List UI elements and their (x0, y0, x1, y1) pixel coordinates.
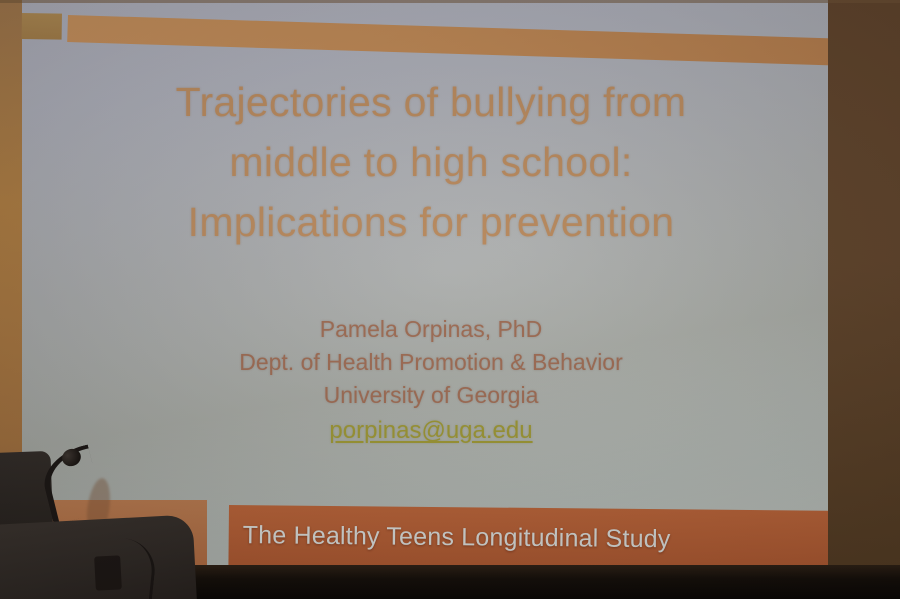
lectern-panel-slot (94, 555, 122, 590)
projection-screen: The Healthy Teens Longitudinal Study Tra… (0, 0, 840, 584)
slide-title-line-1: Trajectories of bullying from (22, 72, 840, 132)
author-email-link: porpinas@uga.edu (329, 414, 532, 447)
slide-byline: Pamela Orpinas, PhD Dept. of Health Prom… (22, 313, 840, 447)
author-department: Dept. of Health Promotion & Behavior (22, 346, 840, 379)
author-name: Pamela Orpinas, PhD (22, 313, 840, 346)
author-institution: University of Georgia (22, 379, 840, 412)
slide-title-line-2: middle to high school: (22, 132, 840, 192)
back-wall-right (828, 0, 900, 590)
slide-title: Trajectories of bullying from middle to … (22, 72, 840, 252)
slide-content: Trajectories of bullying from middle to … (22, 0, 840, 584)
slide-title-line-3: Implications for prevention (22, 192, 840, 252)
lecture-room-photo: The Healthy Teens Longitudinal Study Tra… (0, 0, 900, 599)
ceiling-trim (0, 0, 900, 3)
